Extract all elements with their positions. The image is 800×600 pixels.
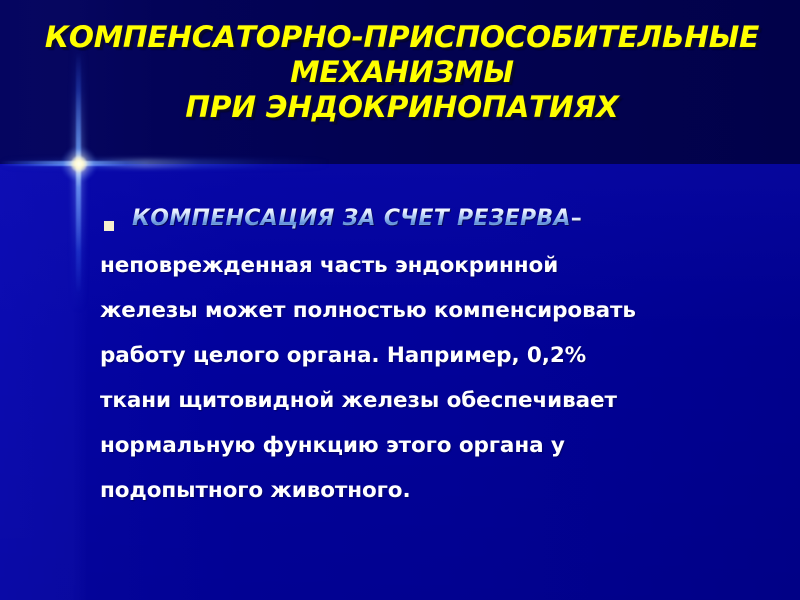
square-bullet-icon (104, 221, 114, 231)
body-line-4: ткани щитовидной железы обеспечивает (100, 378, 760, 423)
body-line-1: неповрежденная часть эндокринной (100, 243, 760, 288)
title-line-2: МЕХАНИЗМЫ (22, 55, 782, 90)
title-line-1: КОМПЕНСАТОРНО-ПРИСПОСОБИТЕЛЬНЫЕ (22, 20, 782, 55)
body-line-3: работу целого органа. Например, 0,2% (100, 333, 760, 378)
slide-body: КОМПЕНСАЦИЯ ЗА СЧЕТ РЕЗЕРВА– неповрежден… (100, 206, 760, 513)
body-line-6: подопытного животного. (100, 468, 760, 513)
body-line-2: железы может полностью компенсировать (100, 288, 760, 333)
bullet-paragraph: неповрежденная часть эндокринной железы … (100, 243, 760, 513)
list-item: КОМПЕНСАЦИЯ ЗА СЧЕТ РЕЗЕРВА– (100, 206, 760, 231)
bullet-lead-dash: – (571, 206, 582, 231)
presentation-slide: КОМПЕНСАТОРНО-ПРИСПОСОБИТЕЛЬНЫЕ МЕХАНИЗМ… (0, 0, 800, 600)
bullet-lead-phrase: КОМПЕНСАЦИЯ ЗА СЧЕТ РЕЗЕРВА (132, 206, 571, 231)
page-title: КОМПЕНСАТОРНО-ПРИСПОСОБИТЕЛЬНЫЕ МЕХАНИЗМ… (22, 20, 782, 125)
body-line-5: нормальную функцию этого органа у (100, 423, 760, 468)
title-line-3: ПРИ ЭНДОКРИНОПАТИЯХ (22, 90, 782, 125)
